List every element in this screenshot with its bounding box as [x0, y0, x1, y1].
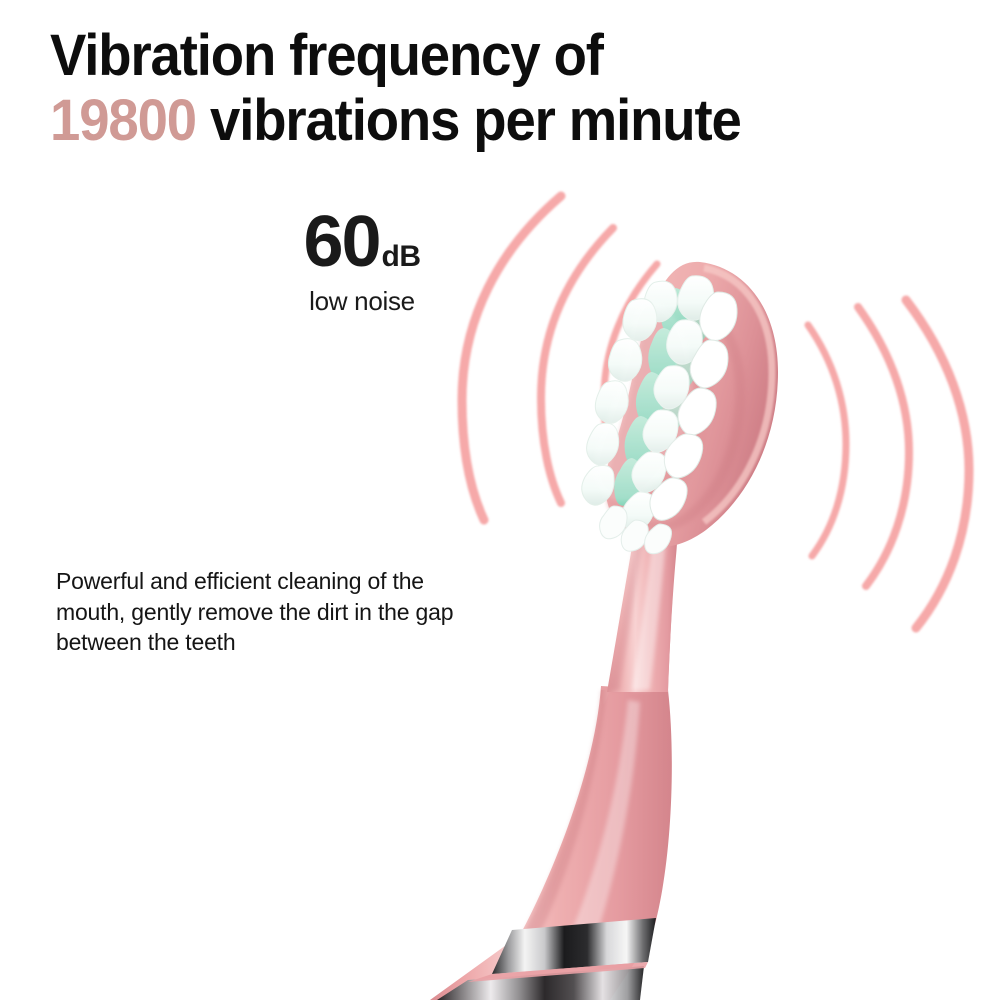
noise-value-row: 60 dB	[262, 206, 462, 278]
page-title: Vibration frequency of 19800 vibrations …	[50, 26, 896, 150]
noise-caption: low noise	[262, 286, 462, 317]
metal-band	[437, 918, 656, 1000]
headline-line-2: 19800 vibrations per minute	[50, 91, 896, 150]
vibration-arcs-right	[808, 300, 969, 628]
noise-unit: dB	[382, 242, 421, 272]
product-infographic: Vibration frequency of 19800 vibrations …	[0, 0, 1000, 1000]
headline-line-2-rest: vibrations per minute	[210, 88, 741, 153]
noise-value: 60	[303, 206, 379, 278]
vibration-count: 19800	[50, 88, 196, 153]
headline-line-1: Vibration frequency of	[50, 26, 896, 85]
noise-badge: 60 dB low noise	[262, 206, 462, 317]
body-copy: Powerful and efficient cleaning of the m…	[56, 566, 496, 658]
